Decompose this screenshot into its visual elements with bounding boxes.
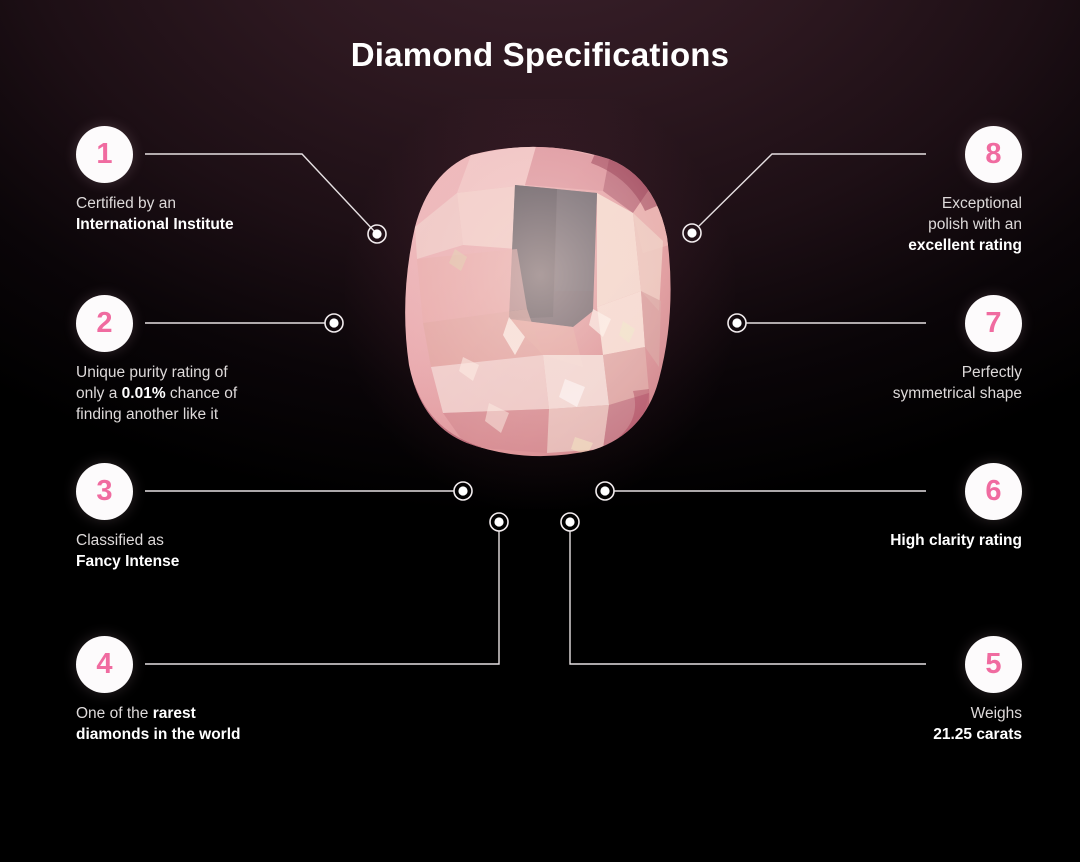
callout-text-3: Classified asFancy Intense [76, 530, 179, 572]
callout-text-line: Perfectly [893, 362, 1022, 383]
leader-dot-8 [683, 224, 701, 242]
callout-badge-8: 8 [965, 126, 1022, 183]
callout-badge-5: 5 [965, 636, 1022, 693]
callout-7[interactable]: 7 Perfectlysymmetrical shape [893, 295, 1022, 404]
callout-text-line: finding another like it [76, 404, 237, 425]
leader-dot-7 [728, 314, 746, 332]
leader-dot-6 [596, 482, 614, 500]
callout-text-line: polish with an [908, 214, 1022, 235]
leader-line-5 [570, 531, 926, 664]
callout-text-line: only a 0.01% chance of [76, 383, 237, 404]
diamond-illustration [397, 141, 683, 461]
leader-dot-4 [490, 513, 508, 531]
callout-badge-6: 6 [965, 463, 1022, 520]
page-title: Diamond Specifications [0, 36, 1080, 74]
callout-4[interactable]: 4 One of the rarestdiamonds in the world [76, 636, 240, 745]
callout-5[interactable]: 5 Weighs21.25 carats [933, 636, 1022, 745]
callout-badge-2: 2 [76, 295, 133, 352]
callout-text-line: High clarity rating [890, 530, 1022, 551]
callout-2[interactable]: 2 Unique purity rating ofonly a 0.01% ch… [76, 295, 237, 425]
callout-text-line: Unique purity rating of [76, 362, 237, 383]
callout-text-line: Exceptional [908, 193, 1022, 214]
callout-text-line: Weighs [933, 703, 1022, 724]
callout-text-line: diamonds in the world [76, 724, 240, 745]
callout-3[interactable]: 3 Classified asFancy Intense [76, 463, 179, 572]
callout-text-4: One of the rarestdiamonds in the world [76, 703, 240, 745]
callout-text-6: High clarity rating [890, 530, 1022, 551]
callout-text-line: Classified as [76, 530, 179, 551]
callout-text-1: Certified by anInternational Institute [76, 193, 234, 235]
callout-text-line: excellent rating [908, 235, 1022, 256]
diamond-svg [397, 141, 683, 461]
leader-dot-2 [325, 314, 343, 332]
callout-badge-1: 1 [76, 126, 133, 183]
callout-text-line: International Institute [76, 214, 234, 235]
callout-badge-4: 4 [76, 636, 133, 693]
leader-dot-3 [454, 482, 472, 500]
callout-text-7: Perfectlysymmetrical shape [893, 362, 1022, 404]
callout-text-line: symmetrical shape [893, 383, 1022, 404]
leader-line-8 [699, 154, 926, 226]
callout-6[interactable]: 6 High clarity rating [890, 463, 1022, 551]
callout-text-5: Weighs21.25 carats [933, 703, 1022, 745]
callout-text-8: Exceptionalpolish with anexcellent ratin… [908, 193, 1022, 256]
callout-badge-3: 3 [76, 463, 133, 520]
callout-badge-7: 7 [965, 295, 1022, 352]
callout-text-line: 21.25 carats [933, 724, 1022, 745]
leader-dot-1 [368, 225, 386, 243]
callout-1[interactable]: 1 Certified by anInternational Institute [76, 126, 234, 235]
callout-text-line: Certified by an [76, 193, 234, 214]
infographic-canvas: Diamond Specifications [0, 0, 1080, 862]
leader-dot-5 [561, 513, 579, 531]
callout-8[interactable]: 8 Exceptionalpolish with anexcellent rat… [908, 126, 1022, 256]
callout-text-line: One of the rarest [76, 703, 240, 724]
callout-text-2: Unique purity rating ofonly a 0.01% chan… [76, 362, 237, 425]
callout-text-line: Fancy Intense [76, 551, 179, 572]
